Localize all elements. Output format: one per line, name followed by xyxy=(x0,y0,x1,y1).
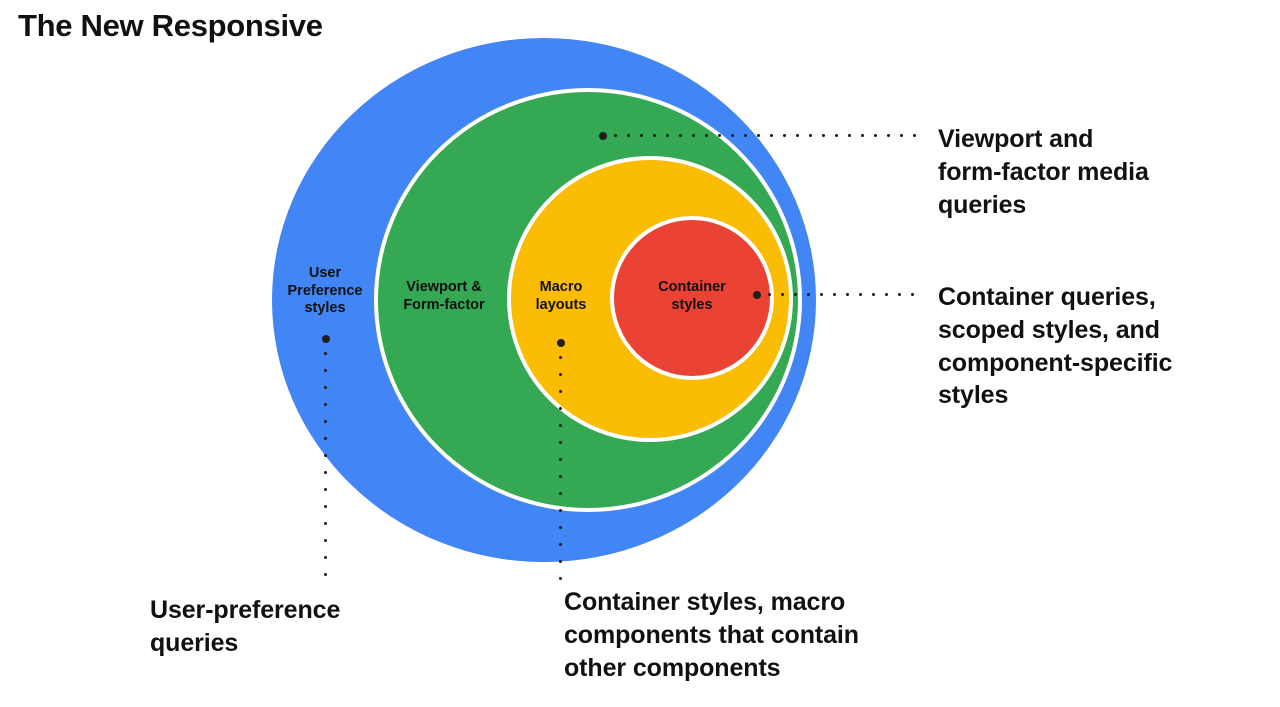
page-title: The New Responsive xyxy=(18,8,323,44)
ring-label-macro-layouts: Macro layouts xyxy=(518,279,604,314)
ring-label-viewport-form-factor: Viewport & Form-factor xyxy=(382,279,506,314)
annotation-macro: Container styles, macro components that … xyxy=(564,586,994,684)
connector-dot-macro xyxy=(557,339,565,347)
ring-label-user-preference: User Preference styles xyxy=(277,265,373,318)
annotation-container: Container queries, scoped styles, and co… xyxy=(938,281,1274,412)
connector-line-viewport xyxy=(609,134,916,137)
connector-line-user-preference xyxy=(324,345,327,588)
annotation-user-preference: User-preference queries xyxy=(150,594,450,660)
annotation-viewport: Viewport and form-factor media queries xyxy=(938,123,1268,221)
connector-dot-user-preference xyxy=(322,335,330,343)
connector-line-container xyxy=(763,293,916,296)
connector-dot-container xyxy=(753,291,761,299)
diagram-canvas: The New Responsive User Preference style… xyxy=(0,0,1280,707)
connector-line-macro xyxy=(559,349,562,581)
ring-label-container-styles: Container styles xyxy=(628,279,756,314)
connector-dot-viewport xyxy=(599,132,607,140)
